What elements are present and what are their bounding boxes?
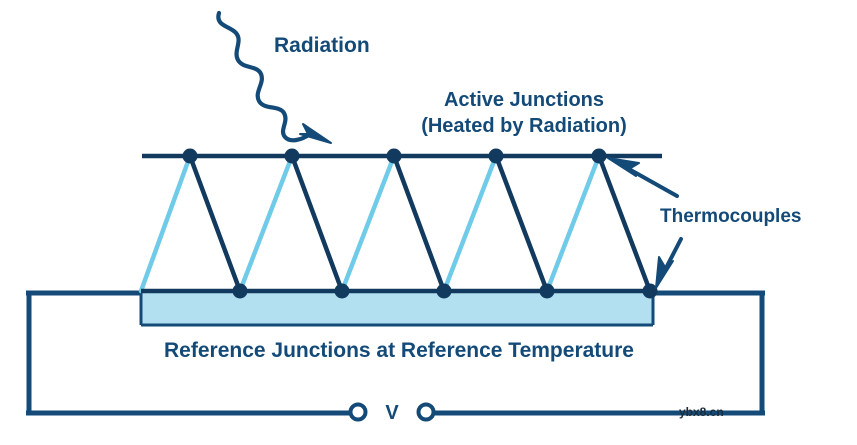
- active-junction-node: [592, 149, 607, 164]
- diagram-canvas: V: [0, 0, 857, 445]
- reference-junction-block: [141, 291, 653, 325]
- thermopile-diagram: V: [0, 0, 857, 445]
- voltage-label: V: [385, 402, 399, 424]
- radiation-label: Radiation: [274, 34, 370, 57]
- thermocouples-arrow-lower-icon: [656, 239, 681, 288]
- reference-junction-node: [335, 284, 350, 299]
- thermocouple-legs-light: [141, 156, 599, 291]
- active-junction-node: [183, 149, 198, 164]
- reference-junction-node: [233, 284, 248, 299]
- watermark-label: ybx8.cn: [679, 405, 724, 419]
- radiation-arrow-icon: [218, 13, 331, 143]
- reference-junction-node: [437, 284, 452, 299]
- thermocouples-label: Thermocouples: [660, 206, 801, 227]
- active-junction-node: [285, 149, 300, 164]
- active-junctions-label-line2: (Heated by Radiation): [421, 115, 627, 137]
- active-junction-node: [489, 149, 504, 164]
- reference-junctions-label: Reference Junctions at Reference Tempera…: [164, 339, 634, 362]
- terminal-left-icon: [351, 405, 366, 420]
- thermocouple-legs-dark: [190, 156, 650, 291]
- terminal-right-icon: [419, 405, 434, 420]
- reference-junction-node: [540, 284, 555, 299]
- thermocouples-arrow-upper-icon: [608, 158, 677, 196]
- active-junction-node: [387, 149, 402, 164]
- voltage-terminals: V: [351, 402, 434, 424]
- active-junctions-label-line1: Active Junctions: [444, 89, 604, 111]
